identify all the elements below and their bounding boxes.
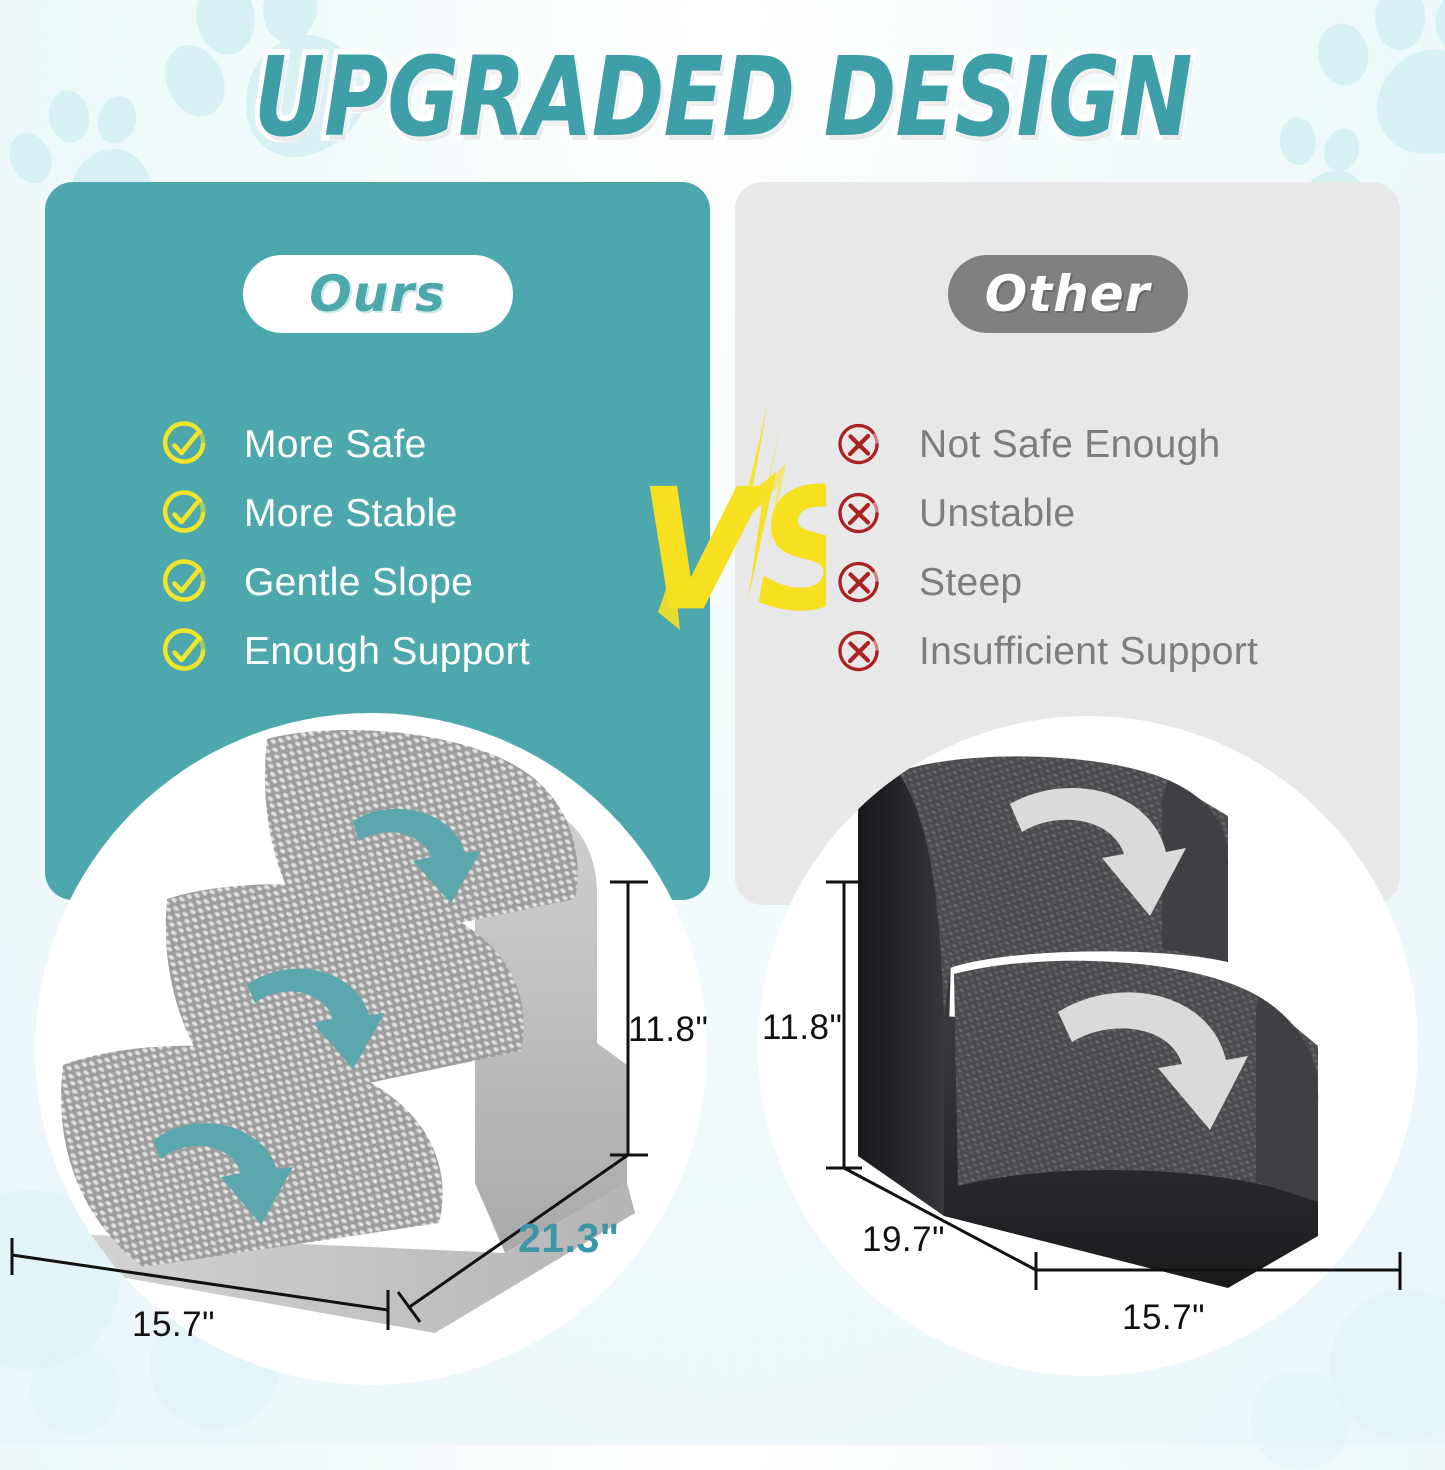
ours-height-dimension: 11.8" [628,1010,708,1050]
list-item-label: Enough Support [244,630,530,674]
other-dimension-lines [740,850,1445,1370]
list-item-label: More Stable [244,492,458,536]
decorative-bubble [1250,1370,1350,1470]
page-title: UPGRADED DESIGN [254,34,1192,162]
list-item: Steep [835,548,1258,617]
x-circle-icon [835,559,883,607]
ours-label-text: Ours [309,265,446,323]
x-circle-icon [835,490,883,538]
list-item: Gentle Slope [160,548,530,617]
other-depth-dimension: 19.7" [862,1220,945,1260]
check-circle-icon [160,490,208,538]
other-label-text: Other [985,265,1151,323]
list-item-label: Unstable [919,492,1075,536]
x-circle-icon [835,628,883,676]
list-item: Insufficient Support [835,617,1258,686]
list-item: More Stable [160,479,530,548]
list-item-label: Insufficient Support [919,630,1258,674]
ours-width-dimension: 15.7" [132,1305,215,1345]
ours-depth-dimension: 21.3" [518,1215,620,1262]
list-item-label: Gentle Slope [244,561,473,605]
page-title-container: UPGRADED DESIGN [0,34,1445,134]
check-circle-icon [160,559,208,607]
svg-text:VS: VS [638,453,826,630]
list-item-label: Not Safe Enough [919,423,1221,467]
versus-badge: VS [636,400,826,630]
ours-dimension-lines [0,850,700,1370]
list-item: Not Safe Enough [835,410,1258,479]
list-item: Enough Support [160,617,530,686]
list-item: More Safe [160,410,530,479]
ours-label-pill: Ours [243,255,513,333]
other-label-pill: Other [948,255,1188,333]
other-width-dimension: 15.7" [1122,1298,1205,1338]
ours-feature-list: More Safe More Stable Gentle Slope [160,410,530,686]
list-item: Unstable [835,479,1258,548]
x-circle-icon [835,421,883,469]
list-item-label: More Safe [244,423,427,467]
check-circle-icon [160,421,208,469]
other-height-dimension: 11.8" [762,1008,842,1048]
list-item-label: Steep [919,561,1022,605]
check-circle-icon [160,628,208,676]
other-feature-list: Not Safe Enough Unstable [835,410,1258,686]
